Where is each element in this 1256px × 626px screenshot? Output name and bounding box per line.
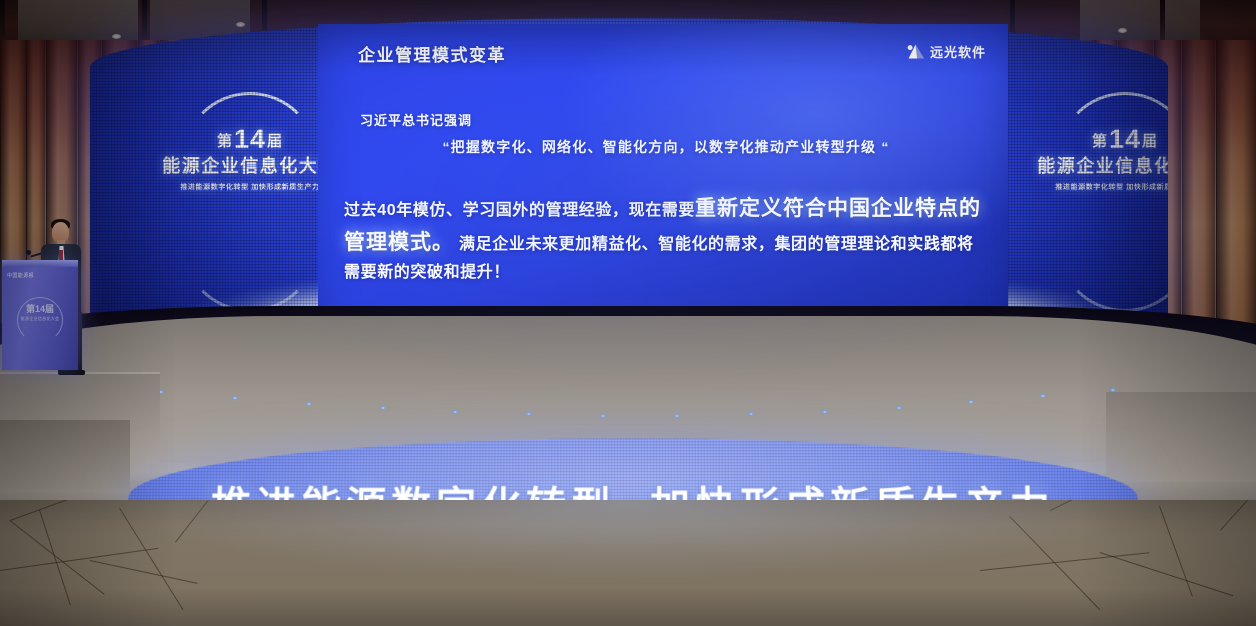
company-logo: 远光软件 <box>906 42 986 61</box>
slide-subtitle: 习近平总书记强调 <box>360 110 472 129</box>
arc-decoration-icon <box>17 297 63 343</box>
conference-logo-right: 第14届 能源企业信息化大会 推进能源数字化转型 加快形成新质生产力 <box>1020 126 1168 192</box>
slide-body-part1: 过去40年模仿、学习国外的管理经验，现在需要 <box>344 202 695 219</box>
slide-quote: “把握数字化、网络化、智能化方向，以数字化推动产业转型升级 “ <box>366 137 966 157</box>
speaker-shoes <box>58 370 85 375</box>
stage-step-left-lower <box>0 420 130 490</box>
speaker-podium: 中国能源报 第14届 能源企业信息化大会 <box>2 265 78 370</box>
ceiling-light <box>1118 28 1127 33</box>
podium-org-label: 中国能源报 <box>7 272 34 279</box>
podium-emblem: 第14届 能源企业信息化大会 <box>14 305 66 322</box>
slide-title: 企业管理模式变革 <box>358 41 506 66</box>
slide-body: 过去40年模仿、学习国外的管理经验，现在需要重新定义符合中国企业特点的管理模式。… <box>344 192 984 286</box>
ceiling-light <box>236 22 245 27</box>
venue-carpet <box>0 500 1256 626</box>
microphone-icon <box>26 250 31 255</box>
triangle-mountain-icon <box>906 43 925 60</box>
conference-stage-photo: 第14届 能源企业信息化大会 推进能源数字化转型 加快形成新质生产力 第14届 … <box>0 0 1256 626</box>
ceiling-light <box>112 34 121 39</box>
company-logo-text: 远光软件 <box>930 42 986 61</box>
conf-tagline: 推进能源数字化转型 加快形成新质生产力 <box>1020 182 1168 192</box>
